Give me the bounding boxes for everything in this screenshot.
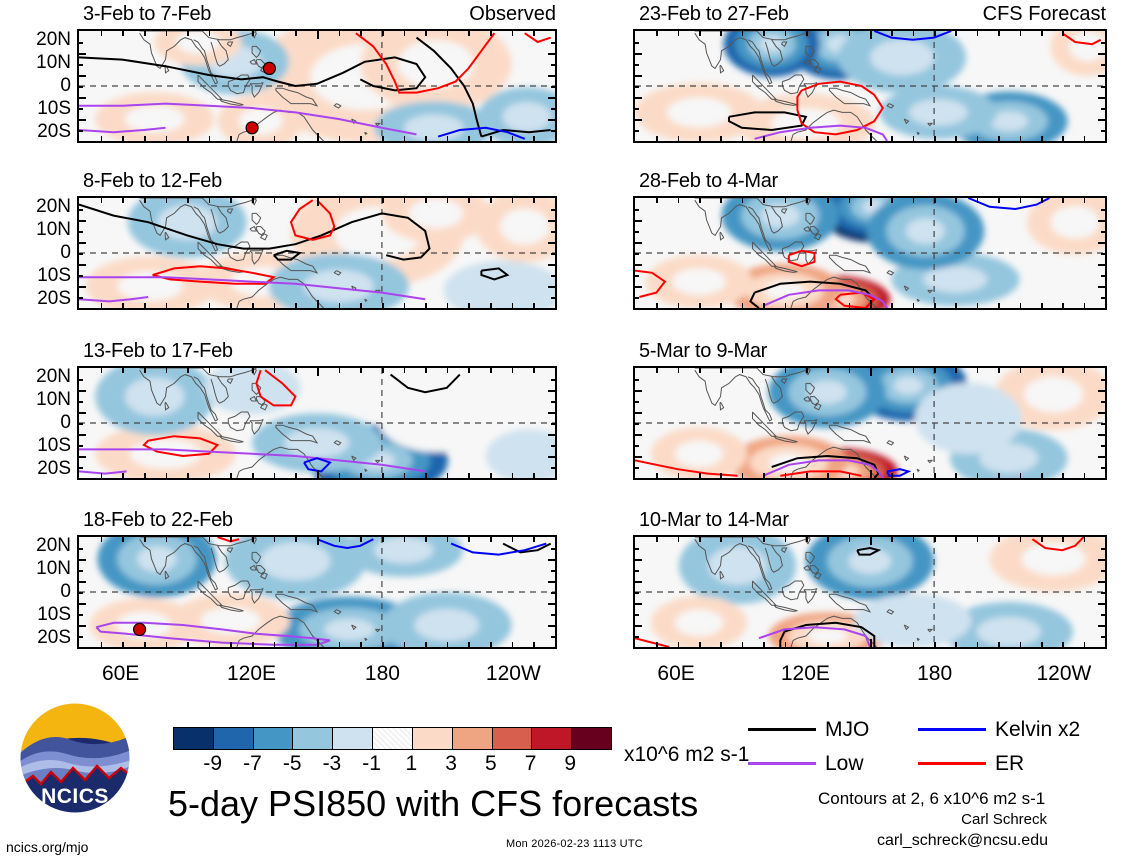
y-tick [635, 97, 642, 99]
x-tick [490, 198, 492, 203]
x-tick [295, 198, 297, 203]
x-tick [806, 642, 808, 647]
x-tick [806, 473, 808, 478]
y-tick [548, 434, 555, 436]
x-tick [274, 136, 276, 141]
x-tick [656, 136, 658, 141]
x-tick [230, 303, 232, 308]
y-tick [1098, 119, 1105, 121]
x-tick [1062, 642, 1064, 647]
y-tick [551, 108, 555, 110]
panel-title: 18-Feb to 22-Feb [83, 510, 233, 530]
y-tick [79, 456, 86, 458]
y-tick [79, 581, 86, 583]
x-tick [1062, 303, 1064, 308]
map-panel [633, 535, 1107, 649]
map-panel [633, 196, 1107, 310]
x-tick [699, 368, 701, 373]
x-tick [101, 31, 103, 36]
x-tick [827, 303, 829, 308]
x-tick [404, 198, 406, 203]
x-tick [806, 31, 808, 36]
y-tick [635, 242, 642, 244]
x-tick [785, 303, 787, 308]
x-tick [934, 642, 936, 647]
x-tick [742, 368, 744, 373]
legend-label: Kelvin x2 [995, 719, 1080, 740]
x-tick [339, 136, 341, 141]
x-tick [934, 31, 936, 36]
x-tick [913, 198, 915, 203]
y-tick [79, 209, 83, 211]
x-tick [656, 642, 658, 647]
y-tick [1101, 548, 1105, 550]
y-tick [1098, 412, 1105, 414]
y-tick [635, 108, 639, 110]
y-tick [1098, 390, 1105, 392]
x-tick [512, 136, 514, 141]
y-tick [635, 467, 639, 469]
x-tick [295, 642, 297, 647]
x-tick [360, 198, 362, 203]
x-tick [806, 136, 808, 141]
y-tick [635, 548, 639, 550]
y-tick [635, 220, 642, 222]
y-tick [551, 42, 555, 44]
y-tick [635, 75, 642, 77]
x-tick [274, 303, 276, 308]
y-tick [1101, 86, 1105, 88]
x-tick [252, 473, 254, 478]
x-tick [512, 368, 514, 373]
x-tick [955, 642, 957, 647]
x-tick [763, 136, 765, 141]
x-tick [425, 31, 427, 36]
panel-title: 3-Feb to 7-Feb [83, 4, 211, 24]
x-tick [998, 31, 1000, 36]
x-tick [656, 31, 658, 36]
lat-tick-label: 10N [36, 390, 71, 409]
x-tick [166, 198, 168, 203]
legend-line-swatch [748, 762, 816, 765]
wave-legend: MJOKelvin x2LowER [748, 712, 1108, 780]
x-tick [977, 368, 979, 373]
x-tick [295, 368, 297, 373]
colorbar-tick-label: 9 [564, 753, 576, 774]
legend-item-er: ER [918, 753, 1108, 774]
x-tick [274, 473, 276, 478]
map-canvas [79, 198, 555, 308]
x-tick [955, 473, 957, 478]
anomaly-field [79, 31, 555, 141]
x-tick [317, 537, 319, 545]
x-tick [785, 473, 787, 478]
x-tick [425, 136, 427, 141]
x-tick [699, 642, 701, 647]
x-tick [720, 31, 722, 36]
y-tick [635, 570, 639, 572]
y-tick [548, 625, 555, 627]
x-tick [913, 368, 915, 373]
y-tick [79, 625, 86, 627]
x-tick [274, 642, 276, 647]
x-tick [252, 303, 254, 308]
y-tick [1101, 467, 1105, 469]
y-tick [1098, 456, 1105, 458]
x-tick [849, 136, 851, 141]
x-tick [187, 473, 189, 478]
x-tick [382, 31, 384, 36]
y-tick [79, 264, 86, 266]
x-tick [742, 31, 744, 36]
colorbar-tick-label: -5 [283, 753, 302, 774]
y-tick [1101, 275, 1105, 277]
x-tick [720, 368, 722, 373]
x-tick [533, 537, 535, 542]
x-tick [870, 537, 872, 545]
y-tick [79, 86, 83, 88]
x-tick [144, 368, 146, 373]
x-tick [209, 368, 211, 373]
lat-tick-label: 10S [37, 266, 71, 285]
x-tick [230, 537, 232, 542]
x-tick [447, 642, 449, 647]
x-tick [785, 31, 787, 36]
longitude-axis: 60E120E180120W [633, 663, 1107, 685]
y-tick [551, 297, 555, 299]
x-tick [274, 198, 276, 203]
x-tick [827, 368, 829, 373]
x-tick [720, 198, 722, 203]
x-tick [934, 198, 936, 203]
x-tick [699, 31, 701, 36]
panel-title: 13-Feb to 17-Feb [83, 341, 233, 361]
y-tick [79, 548, 83, 550]
y-tick [1101, 445, 1105, 447]
x-tick [1020, 303, 1022, 308]
x-tick [742, 303, 744, 308]
x-tick [252, 31, 254, 36]
x-tick [230, 642, 232, 647]
x-tick [699, 473, 701, 478]
x-tick [891, 537, 893, 542]
x-tick [1020, 198, 1022, 203]
x-tick [955, 198, 957, 203]
y-tick [548, 412, 555, 414]
ncics-logo-graphic: NCICS [19, 702, 131, 814]
x-tick [101, 537, 103, 542]
colorbar-tick-label: 3 [445, 753, 457, 774]
y-tick [635, 253, 639, 255]
x-tick [382, 303, 384, 308]
x-tick [447, 198, 449, 203]
x-tick [1062, 537, 1064, 542]
colorbar [173, 727, 612, 750]
x-tick [763, 198, 765, 203]
x-tick [512, 198, 514, 203]
x-tick [955, 136, 957, 141]
x-tick [763, 473, 765, 478]
y-tick [79, 97, 86, 99]
x-tick [360, 642, 362, 647]
x-tick [468, 537, 470, 542]
colorbar-swatch [213, 728, 253, 749]
lat-tick-label: 10S [37, 605, 71, 624]
x-tick [742, 473, 744, 478]
map-panel [77, 29, 557, 143]
x-tick [490, 642, 492, 647]
x-tick [252, 136, 254, 141]
colorbar-swatch [292, 728, 332, 749]
x-tick [490, 368, 492, 373]
x-tick [656, 198, 658, 203]
y-tick [79, 130, 83, 132]
y-tick [1098, 286, 1105, 288]
x-tick [1041, 642, 1043, 647]
x-tick [849, 31, 851, 36]
x-tick [763, 368, 765, 373]
y-tick [1101, 401, 1105, 403]
x-tick [827, 537, 829, 542]
y-tick [79, 75, 86, 77]
x-tick [339, 303, 341, 308]
y-tick [551, 253, 555, 255]
x-tick [806, 368, 808, 373]
x-tick [720, 136, 722, 141]
legend-item-low: Low [748, 753, 918, 774]
legend-label: Low [825, 753, 864, 774]
x-tick [166, 31, 168, 36]
x-tick [934, 473, 936, 478]
y-tick [79, 242, 86, 244]
x-tick [382, 537, 384, 542]
x-tick [913, 303, 915, 308]
x-tick [1084, 642, 1086, 647]
y-tick [1101, 108, 1105, 110]
email-label: carl_schreck@ncsu.edu [877, 833, 1048, 849]
panel-title: 10-Mar to 14-Mar [639, 510, 789, 530]
x-tick [870, 639, 872, 647]
map-panel [77, 196, 557, 310]
y-tick [551, 275, 555, 277]
x-tick [144, 198, 146, 203]
x-tick [339, 31, 341, 36]
x-tick [317, 133, 319, 141]
x-tick [998, 303, 1000, 308]
x-tick [187, 537, 189, 542]
ncics-logo-text: NCICS [41, 785, 109, 808]
y-tick [1098, 242, 1105, 244]
x-tick [891, 303, 893, 308]
x-tick [166, 303, 168, 308]
lat-tick-label: 0 [60, 413, 71, 432]
x-tick [122, 31, 124, 36]
x-tick [166, 136, 168, 141]
x-tick [101, 303, 103, 308]
x-tick [870, 470, 872, 478]
x-tick [339, 473, 341, 478]
colorbar-tick-label: -9 [203, 753, 222, 774]
x-tick [230, 473, 232, 478]
x-tick [785, 537, 787, 542]
x-tick [425, 198, 427, 203]
x-tick [1084, 473, 1086, 478]
x-tick [295, 303, 297, 308]
lat-tick-label: 20N [36, 536, 71, 555]
colorbar-swatch [372, 728, 412, 749]
lat-tick-label: 10N [36, 559, 71, 578]
x-tick [533, 198, 535, 203]
x-tick [1062, 473, 1064, 478]
x-tick [144, 642, 146, 647]
colorbar-swatch [452, 728, 492, 749]
x-tick [382, 473, 384, 478]
tc-symbol-icon [134, 623, 146, 635]
y-tick [551, 130, 555, 132]
x-tick [533, 368, 535, 373]
lon-tick-label: 120W [1036, 663, 1091, 684]
lat-tick-label: 10S [37, 436, 71, 455]
x-tick [252, 537, 254, 542]
y-tick [635, 130, 639, 132]
map-canvas [79, 537, 555, 647]
x-tick [806, 537, 808, 542]
colorbar-swatch [253, 728, 293, 749]
x-tick [998, 473, 1000, 478]
lon-tick-label: 120E [781, 663, 830, 684]
y-tick [1101, 253, 1105, 255]
x-tick [404, 537, 406, 542]
colorbar-tick-label: 7 [525, 753, 537, 774]
x-tick [1041, 368, 1043, 373]
x-tick [1041, 537, 1043, 542]
y-tick [548, 119, 555, 121]
x-tick [187, 368, 189, 373]
y-tick [1101, 42, 1105, 44]
x-tick [382, 136, 384, 141]
x-tick [827, 198, 829, 203]
x-tick [1084, 198, 1086, 203]
panel-title: 8-Feb to 12-Feb [83, 171, 222, 191]
y-tick [1098, 434, 1105, 436]
lon-tick-label: 180 [365, 663, 400, 684]
x-tick [870, 368, 872, 376]
y-tick [548, 242, 555, 244]
y-tick [548, 97, 555, 99]
x-tick [512, 303, 514, 308]
x-tick [404, 473, 406, 478]
x-tick [468, 136, 470, 141]
anomaly-field [79, 198, 555, 308]
x-tick [977, 303, 979, 308]
colorbar-swatch [492, 728, 532, 749]
map-canvas [635, 368, 1105, 478]
y-tick [551, 614, 555, 616]
column-kind-label: Observed [469, 4, 556, 24]
x-tick [295, 537, 297, 542]
x-tick [317, 368, 319, 376]
x-tick [144, 537, 146, 542]
legend-item-mjo: MJO [748, 719, 918, 740]
y-tick [79, 614, 83, 616]
x-tick [678, 198, 680, 203]
y-tick [551, 467, 555, 469]
anomaly-field [635, 537, 1105, 647]
x-tick [122, 473, 124, 478]
lat-tick-label: 20N [36, 30, 71, 49]
legend-line-swatch [918, 728, 986, 731]
x-tick [317, 31, 319, 39]
x-tick [720, 303, 722, 308]
x-tick [490, 31, 492, 36]
y-tick [635, 423, 639, 425]
y-tick [635, 401, 639, 403]
legend-label: ER [995, 753, 1024, 774]
x-tick [101, 473, 103, 478]
x-tick [209, 642, 211, 647]
x-tick [404, 136, 406, 141]
y-tick [1101, 570, 1105, 572]
x-tick [998, 368, 1000, 373]
anomaly-field [635, 31, 1105, 141]
y-tick [551, 636, 555, 638]
lat-tick-label: 20N [36, 367, 71, 386]
x-tick [230, 31, 232, 36]
x-tick [913, 642, 915, 647]
x-tick [1084, 537, 1086, 542]
y-tick [79, 434, 86, 436]
x-tick [891, 136, 893, 141]
map-panel [633, 29, 1107, 143]
x-tick [849, 537, 851, 542]
x-tick [490, 473, 492, 478]
y-tick [1101, 231, 1105, 233]
x-tick [763, 303, 765, 308]
y-tick [635, 614, 639, 616]
y-tick [1101, 297, 1105, 299]
site-url-label[interactable]: ncics.org/mjo [6, 840, 88, 854]
x-tick [360, 303, 362, 308]
x-tick [891, 473, 893, 478]
x-tick [101, 198, 103, 203]
y-tick [635, 434, 642, 436]
x-tick [678, 642, 680, 647]
x-tick [122, 136, 124, 141]
y-tick [635, 390, 642, 392]
colorbar-tick-label: 5 [485, 753, 497, 774]
x-tick [720, 473, 722, 478]
contours-note: Contours at 2, 6 x10^6 m2 s-1 [818, 790, 1045, 807]
y-tick [635, 209, 639, 211]
x-tick [955, 368, 957, 373]
x-tick [977, 136, 979, 141]
author-label: Carl Schreck [961, 812, 1047, 827]
x-tick [742, 136, 744, 141]
colorbar-tick-labels: -9-7-5-3-113579 [173, 753, 610, 777]
x-tick [209, 31, 211, 36]
y-tick [79, 297, 83, 299]
x-tick [678, 31, 680, 36]
x-tick [425, 303, 427, 308]
x-tick [870, 133, 872, 141]
anomaly-field [635, 368, 1105, 478]
x-tick [360, 473, 362, 478]
x-tick [468, 303, 470, 308]
ncics-logo[interactable]: NCICS [19, 702, 131, 819]
lat-tick-label: 0 [60, 76, 71, 95]
x-tick [913, 136, 915, 141]
y-tick [79, 253, 83, 255]
